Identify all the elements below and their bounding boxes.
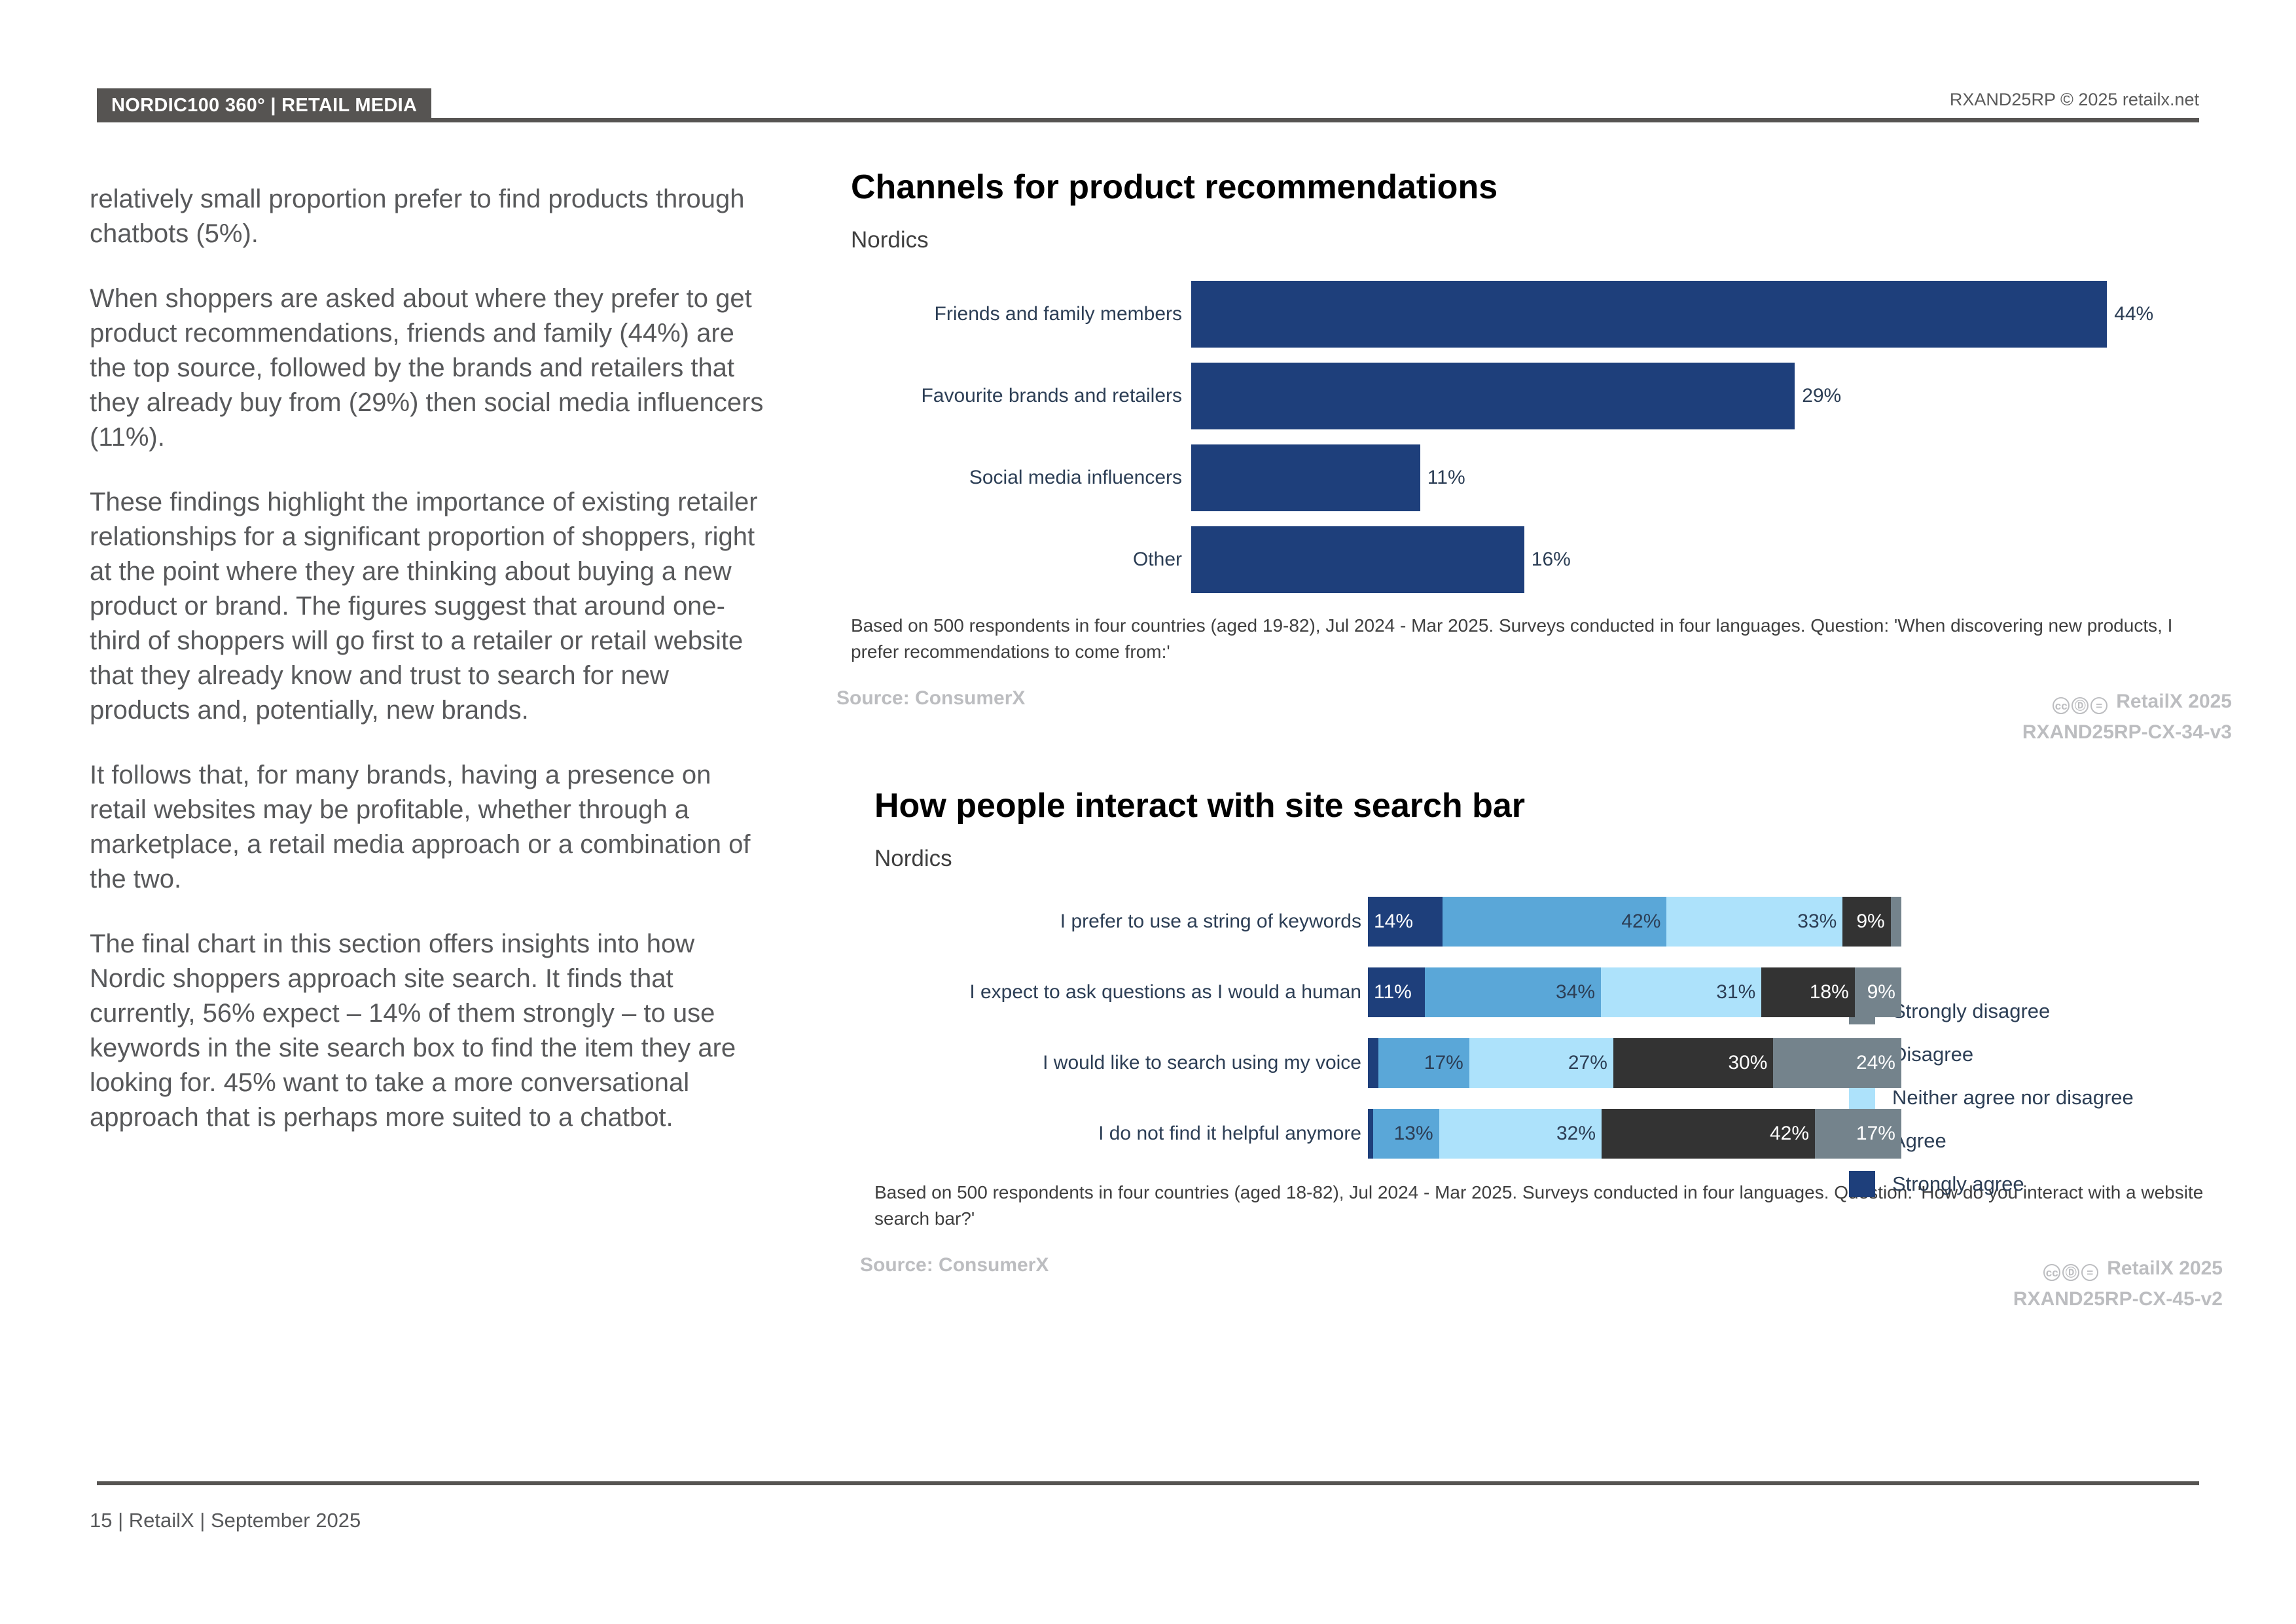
chart1-bar-value: 16% [1524,549,1571,571]
chart2-segment-value: 34% [1425,981,1601,1003]
chart2-segment [1368,1038,1378,1088]
chart1-bar-track: 11% [1191,444,2232,511]
chart1-bar-track: 29% [1191,363,2232,429]
chart1-bar [1191,281,2107,348]
chart2-segment: 34% [1425,967,1601,1017]
chart1-category-label: Other [851,549,1191,571]
chart1-bar-row: Favourite brands and retailers29% [851,363,2232,429]
chart2-source-row: Source: ConsumerX ccⒹ= RetailX 2025 RXAN… [851,1254,2232,1309]
chart1-category-label: Friends and family members [851,303,1191,325]
chart2-code: RXAND25RP-CX-45-v2 [2013,1285,2223,1314]
chart2-bar-row: I do not find it helpful anymore13%32%42… [851,1109,2232,1159]
chart2-segment: 42% [1443,897,1666,947]
chart2-bar-row: I would like to search using my voice17%… [851,1038,2232,1088]
chart1-category-label: Favourite brands and retailers [851,385,1191,407]
chart2-legend-label: Strongly agree [1892,1172,2024,1196]
chart2-segment [1368,1109,1373,1159]
chart2-segment: 32% [1439,1109,1602,1159]
creative-commons-icon: ccⒹ= [2043,1256,2100,1285]
chart2-segment: 9% [1855,967,1901,1017]
chart2-segment-value: 17% [1815,1123,1901,1145]
chart2-attribution-block: ccⒹ= RetailX 2025 RXAND25RP-CX-45-v2 [2013,1254,2223,1314]
chart2-segment: 18% [1761,967,1854,1017]
paragraph-2: When shoppers are asked about where they… [90,281,764,455]
chart2-segment-value: 17% [1378,1052,1469,1074]
chart2-attribution: RetailX 2025 [2107,1257,2223,1279]
chart1-footnote: Based on 500 respondents in four countri… [851,613,2219,665]
chart1-plot-area: Friends and family members44%Favourite b… [851,281,2232,593]
chart1-bar-value: 29% [1795,385,1841,407]
chart2-segment-value: 24% [1773,1052,1901,1074]
chart2-legend-item: Strongly agree [1849,1171,2134,1197]
chart2-category-label: I prefer to use a string of keywords [851,911,1368,933]
chart1-bar-row: Friends and family members44% [851,281,2232,348]
chart2-segment: 30% [1613,1038,1774,1088]
chart1-bar-track: 44% [1191,281,2232,348]
chart2-bar-row: I expect to ask questions as I would a h… [851,967,2232,1017]
chart2-segment-value: 33% [1666,911,1842,933]
paragraph-4: It follows that, for many brands, having… [90,758,764,897]
chart2-segment: 24% [1773,1038,1901,1088]
chart1-title: Channels for product recommendations [851,167,2232,208]
chart2-plot-area: Strongly disagreeDisagreeNeither agree n… [851,897,2232,1159]
chart2-segment: 9% [1842,897,1890,947]
chart1-bar-value: 11% [1420,467,1465,489]
chart2-bar-track: 11%34%31%18%9% [1368,967,1901,1017]
chart2-segment-value: 11% [1368,981,1425,1003]
chart2-bar-track: 17%27%30%24% [1368,1038,1901,1088]
page-header: NORDIC100 360° | RETAIL MEDIA RXAND25RP … [97,88,2199,122]
page-footer: 15 | RetailX | September 2025 [90,1509,361,1532]
chart2-segment: 31% [1601,967,1761,1017]
creative-commons-icon: ccⒹ= [2053,689,2109,718]
chart2-legend-swatch [1849,1171,1875,1197]
chart2-legend-item: Neither agree nor disagree [1849,1085,2134,1111]
chart2-segment: 13% [1373,1109,1439,1159]
chart2-segment: 17% [1378,1038,1469,1088]
chart1-bar-value: 44% [2107,303,2153,325]
chart2-segment-value: 31% [1601,981,1761,1003]
chart1-code: RXAND25RP-CX-34-v3 [2022,718,2232,747]
chart2-legend: Strongly disagreeDisagreeNeither agree n… [1849,998,2134,1214]
chart2-segment-value: 9% [1855,981,1901,1003]
chart2-subtitle: Nordics [874,846,2232,872]
chart2-source: Source: ConsumerX [860,1254,1049,1276]
chart2-segment-value: 9% [1842,911,1890,933]
chart-how-people-interact-with-site-search-bar: How people interact with site search bar… [851,785,2232,1309]
chart2-category-label: I would like to search using my voice [851,1052,1368,1074]
paragraph-5: The final chart in this section offers i… [90,927,764,1135]
chart2-segment: 11% [1368,967,1425,1017]
chart2-bar-track: 13%32%42%17% [1368,1109,1901,1159]
chart2-segment-value: 14% [1368,911,1443,933]
chart1-attribution-block: ccⒹ= RetailX 2025 RXAND25RP-CX-34-v3 [2022,687,2232,747]
chart2-legend-label: Neither agree nor disagree [1892,1086,2134,1110]
chart2-segment-value: 27% [1469,1052,1613,1074]
chart2-segment [1891,897,1901,947]
chart2-segment: 17% [1815,1109,1901,1159]
chart2-segment-value: 13% [1373,1123,1439,1145]
paragraph-3: These findings highlight the importance … [90,485,764,728]
chart2-segment-value: 42% [1602,1123,1815,1145]
chart2-category-label: I expect to ask questions as I would a h… [851,981,1368,1003]
paragraph-1: relatively small proportion prefer to fi… [90,182,764,251]
chart2-segment-value: 18% [1761,981,1854,1003]
chart2-segment-value: 32% [1439,1123,1602,1145]
chart1-bar [1191,444,1420,511]
chart2-category-label: I do not find it helpful anymore [851,1123,1368,1145]
chart1-bar-row: Social media influencers11% [851,444,2232,511]
chart2-segment-value: 42% [1443,911,1666,933]
chart2-bar-track: 14%42%33%9% [1368,897,1901,947]
chart1-bar [1191,526,1524,593]
chart2-segment: 14% [1368,897,1443,947]
header-copyright: RXAND25RP © 2025 retailx.net [1950,90,2199,110]
chart1-source-row: Source: ConsumerX ccⒹ= RetailX 2025 RXAN… [851,687,2232,742]
chart2-title: How people interact with site search bar [874,785,2232,826]
chart2-segment: 42% [1602,1109,1815,1159]
article-text-column: relatively small proportion prefer to fi… [90,182,764,1165]
chart1-bar-track: 16% [1191,526,2232,593]
chart1-category-label: Social media influencers [851,467,1191,489]
chart2-segment: 27% [1469,1038,1613,1088]
chart2-segment: 33% [1666,897,1842,947]
charts-column: Channels for product recommendations Nor… [851,167,2232,1309]
chart1-bar-row: Other16% [851,526,2232,593]
chart1-source: Source: ConsumerX [836,687,1025,710]
chart2-bar-row: I prefer to use a string of keywords14%4… [851,897,2232,947]
chart2-segment-value: 30% [1613,1052,1774,1074]
footer-rule [97,1481,2199,1485]
chart2-legend-swatch [1849,1085,1875,1111]
chart-channels-for-product-recommendations: Channels for product recommendations Nor… [851,167,2232,742]
chart1-bar [1191,363,1795,429]
chart1-attribution: RetailX 2025 [2116,691,2232,712]
chart1-subtitle: Nordics [851,227,2232,253]
header-rule [97,118,2199,122]
